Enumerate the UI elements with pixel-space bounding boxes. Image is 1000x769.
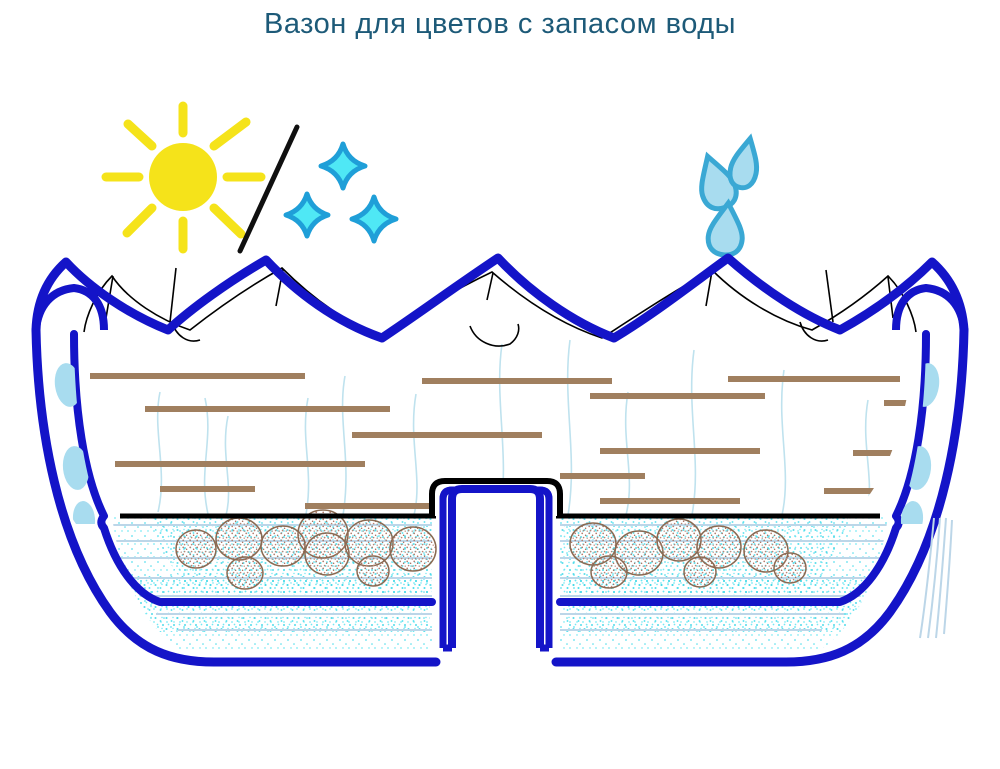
water-drop-icon [727, 136, 763, 190]
sparkle-icon [286, 194, 328, 236]
no-sun-slash-icon [240, 127, 297, 251]
sun-icon [106, 106, 261, 249]
water-drop-icon-group [691, 136, 762, 257]
sparkle-icon [352, 197, 396, 241]
diagram-canvas: Вазон для цветов с запасом воды [0, 0, 1000, 769]
sparkle-icon-group [286, 144, 396, 241]
planter-cross-section-illustration [0, 0, 1000, 769]
central-drainage-column [432, 481, 560, 648]
sparkle-icon [321, 144, 365, 188]
water-reservoir-flower-pot [36, 258, 984, 662]
